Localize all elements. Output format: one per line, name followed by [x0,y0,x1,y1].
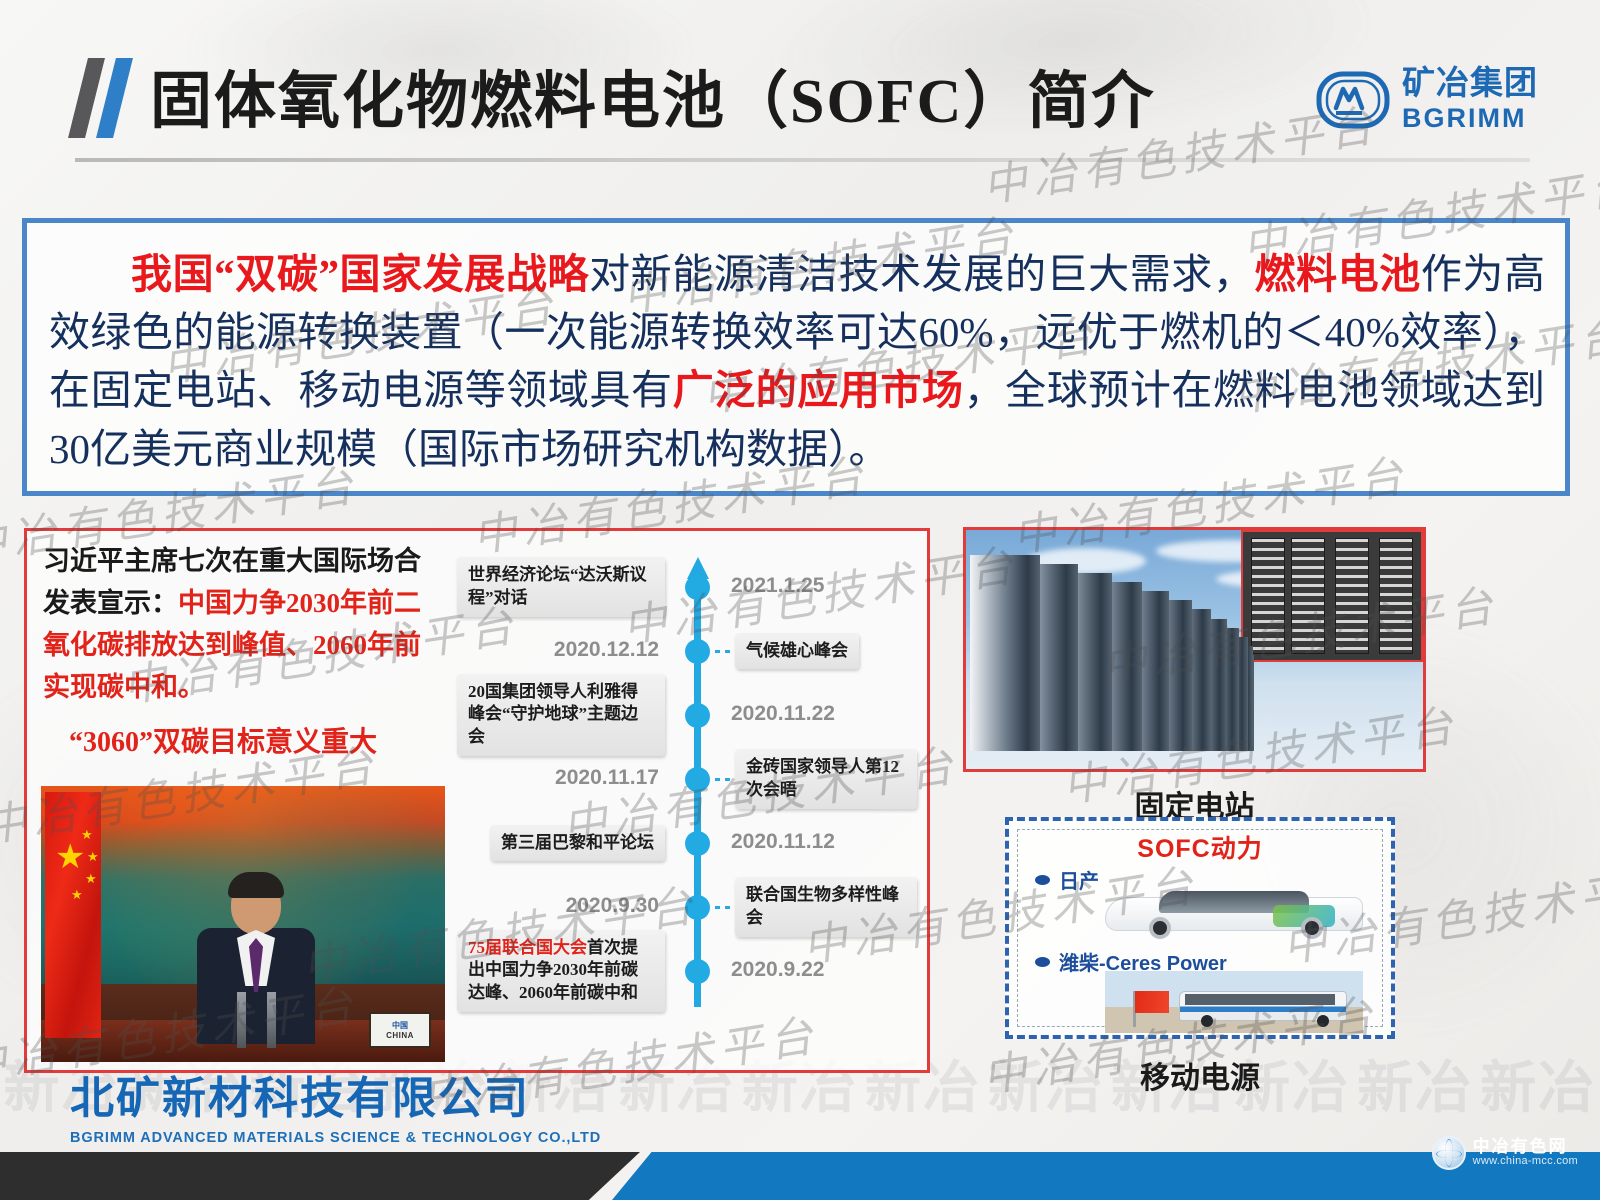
intro-plain-text: 对新能源清洁技术发展的巨大需求， [589,251,1254,297]
timeline-event-card: 金砖国家领导人第12次会晤 [735,749,917,809]
timeline-node [685,703,710,728]
sofc-power-title: SOFC动力 [1009,829,1391,865]
declaration-line-3: 氧化碳排放达到峰值、2060年前 [43,625,443,667]
timeline-event-label: 20国集团领导人利雅得峰会“守护地球”主题边会 [468,682,638,747]
china-mcc-logo: 中冶有色网 www.china-mcc.com [1432,1136,1578,1170]
intro-highlight-text: 燃料电池 [1254,251,1420,297]
timeline-event-date: 2020.11.12 [731,830,835,854]
nameplate-cn: 中国 [392,1020,408,1031]
timeline-event-label: 气候雄心峰会 [746,641,848,660]
bullet-icon [1035,957,1050,967]
carbon-goal-panel: 习近平主席七次在重大国际场合 发表宣示：中国力争2030年前二 氧化碳排放达到峰… [24,528,930,1073]
intro-callout-box: 我国“双碳”国家发展战略对新能源清洁技术发展的巨大需求，燃料电池作为高效绿色的能… [22,218,1570,496]
mcc-site-name: 中冶有色网 [1473,1138,1578,1156]
bgrimm-emblem-icon [1316,70,1390,130]
timeline-event-card: 20国集团领导人利雅得峰会“守护地球”主题边会 [457,674,665,757]
country-nameplate: 中国 CHINA [369,1012,431,1048]
intro-highlight-text: 广泛的应用市场 [673,367,964,413]
timeline-event-label: 联合国生物多样性峰会 [746,885,899,927]
stationary-plant-figure [963,527,1426,772]
timeline-node [685,639,710,664]
intro-highlight-text: 我国“双碳”国家发展战略 [131,251,589,297]
stationary-plant-image [963,527,1426,772]
intro-paragraph: 我国“双碳”国家发展战略对新能源清洁技术发展的巨大需求，燃料电池作为高效绿色的能… [27,223,1565,478]
timeline-event-label: 第三届巴黎和平论坛 [501,833,654,852]
timeline-event-card: 75届联合国大会首次提出中国力争2030年前碳达峰、2060年前碳中和 [457,930,665,1013]
xi-speech-photo: ★★ ★★ ★ 中国 CHINA [41,786,445,1062]
globe-icon [1432,1136,1466,1170]
sofc-item-nissan: 日产 [1035,865,1099,894]
timeline-event-date: 2021.1.25 [731,574,824,598]
bgrimm-logo: 矿冶集团 BGRIMM [1316,62,1538,138]
timeline-event-date: 2020.12.12 [554,638,659,662]
declaration-line-4: 实现碳中和。 [43,667,443,709]
declaration-prefix: 发表宣示： [43,588,178,618]
watermark-glyph: 新冶 [1480,1043,1596,1124]
timeline-event-label: 金砖国家领导人第12次会晤 [746,757,899,799]
timeline-node [685,895,710,920]
speech-timeline: 世界经济论坛“达沃斯议程”对话2021.1.25气候雄心峰会2020.12.12… [447,551,917,1051]
slide-header: 固体氧化物燃料电池（SOFC）简介 矿冶集团 BGRIMM [0,0,1600,170]
timeline-event-card: 第三届巴黎和平论坛 [490,825,665,862]
company-name-en: BGRIMM ADVANCED MATERIALS SCIENCE & TECH… [70,1130,570,1146]
timeline-event-label: 世界经济论坛“达沃斯议程”对话 [468,565,647,607]
timeline-event-card: 气候雄心峰会 [735,633,859,670]
timeline-event-date: 2020.11.22 [731,702,835,726]
mobile-power-caption: 移动电源 [1005,1053,1395,1097]
timeline-event-date: 2020.9.22 [731,958,824,982]
declaration-line-1: 习近平主席七次在重大国际场合 [43,541,443,583]
weichai-ceres-bus-image [1105,971,1363,1033]
timeline-event-card: 世界经济论坛“达沃斯议程”对话 [457,557,665,617]
logo-english-name: BGRIMM [1402,105,1538,132]
declaration-emphasis: “3060”双碳目标意义重大 [43,720,443,760]
bottom-bar-dark-segment [0,1152,640,1200]
header-divider [75,158,1530,162]
bullet-icon [1035,875,1050,885]
logo-chinese-name: 矿冶集团 [1402,68,1538,101]
timeline-event-date: 2020.11.17 [555,766,659,790]
microphone-icon [237,992,246,1048]
timeline-event-card: 联合国生物多样性峰会 [735,877,917,937]
fuel-cell-stack-unit [970,555,1040,751]
title-accent-bars-icon [78,58,140,138]
page-title: 固体氧化物燃料电池（SOFC）简介 [150,50,1155,140]
declaration-red-1: 中国力争2030年前二 [178,588,421,618]
company-name-cn: 北矿新材科技有限公司 [70,1062,570,1126]
timeline-node [685,959,710,984]
microphone-icon [267,992,276,1048]
timeline-node [685,767,710,792]
timeline-event-label-highlight: 75届联合国大会 [468,938,587,957]
timeline-node [685,575,710,600]
declaration-text-block: 习近平主席七次在重大国际场合 发表宣示：中国力争2030年前二 氧化碳排放达到峰… [43,541,443,760]
speaker-figure [191,876,321,1044]
nissan-sofc-car-image [1105,883,1363,939]
mcc-site-url: www.china-mcc.com [1473,1156,1578,1168]
china-flag-icon: ★★ ★★ ★ [45,792,101,1038]
sofc-item-label: 日产 [1059,865,1099,894]
sofc-mobile-power-box: SOFC动力 日产 潍柴-Ceres Power [1005,817,1395,1039]
company-logo-footer: 北矿新材科技有限公司 BGRIMM ADVANCED MATERIALS SCI… [70,1062,570,1146]
declaration-line-2: 发表宣示：中国力争2030年前二 [43,583,443,625]
slide-canvas: 新冶新冶新冶新冶新冶新冶新冶新冶新冶新冶新冶新冶新冶 固体氧化物燃料电池（SOF… [0,0,1600,1200]
timeline-event-date: 2020.9.30 [566,894,659,918]
nameplate-en: CHINA [386,1031,414,1040]
bottom-bar: 中冶有色网 www.china-mcc.com [0,1152,1600,1200]
stack-module-inset-image [1241,530,1423,662]
timeline-node [685,831,710,856]
